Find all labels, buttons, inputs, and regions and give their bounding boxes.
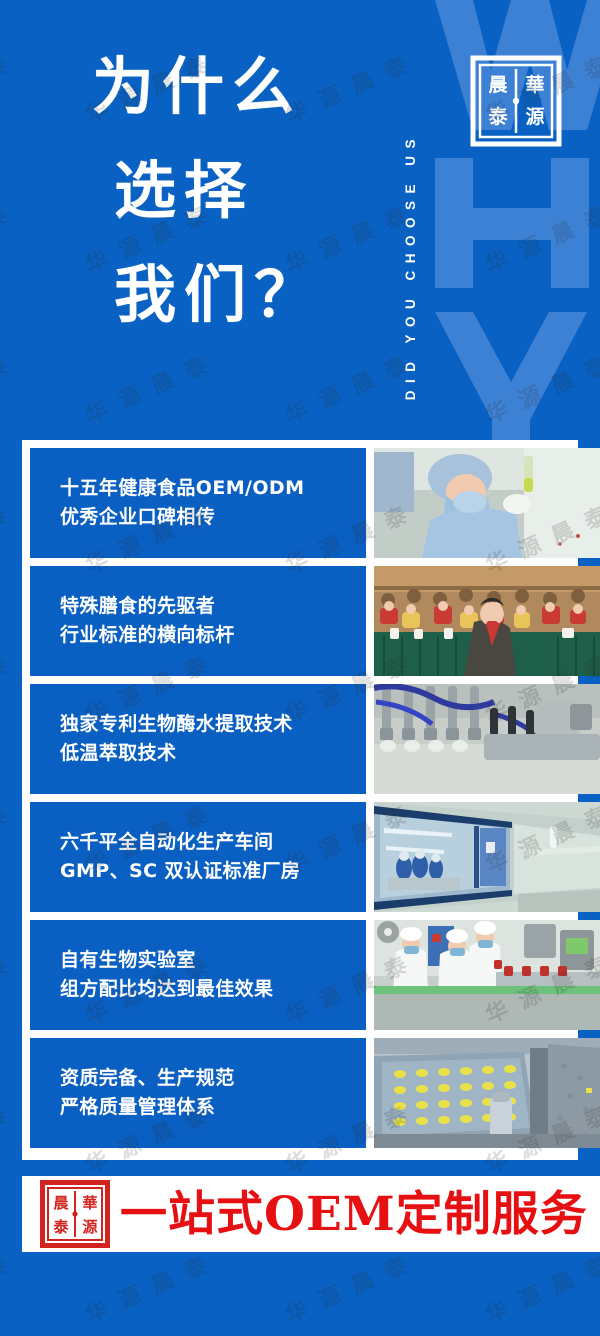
- svg-text:晨: 晨: [53, 1194, 69, 1212]
- vertical-english-text: DID YOU CHOOSE US: [404, 132, 418, 400]
- feature-line-1: 资质完备、生产规范: [60, 1064, 366, 1093]
- title-line-1: 为什么: [92, 56, 324, 118]
- watermark-text: 华源晨泰: [80, 342, 225, 430]
- feature-photo-blister-packaging: [374, 1038, 600, 1148]
- list-item[interactable]: 六千平全自动化生产车间 GMP、SC 双认证标准厂房: [30, 802, 600, 912]
- list-item[interactable]: 资质完备、生产规范 严格质量管理体系: [30, 1038, 600, 1148]
- list-item[interactable]: 独家专利生物酶水提取技术 低温萃取技术: [30, 684, 600, 794]
- feature-line-2: 组方配比均达到最佳效果: [60, 975, 366, 1004]
- watermark-text: 华源晨泰: [0, 42, 24, 130]
- title-line-2: 选择: [114, 160, 324, 222]
- feature-line-2: 行业标准的横向标杆: [60, 621, 366, 650]
- svg-text:泰: 泰: [487, 105, 508, 128]
- feature-text-card: 独家专利生物酶水提取技术 低温萃取技术: [30, 684, 366, 794]
- brand-seal-header: 晨 泰 華 源: [470, 55, 562, 147]
- feature-line-2: 优秀企业口碑相传: [60, 503, 366, 532]
- poster-root: DID YOU CHOOSE US 晨 泰 華 源 为什么 选择 我们？ 十五年…: [0, 0, 600, 1336]
- feature-line-1: 自有生物实验室: [60, 946, 366, 975]
- list-item[interactable]: 十五年健康食品OEM/ODM 优秀企业口碑相传: [30, 448, 600, 558]
- svg-text:晨: 晨: [488, 74, 508, 96]
- seal-icon: 晨 泰 華 源: [470, 55, 562, 147]
- feature-text-card: 自有生物实验室 组方配比均达到最佳效果: [30, 920, 366, 1030]
- feature-line-1: 独家专利生物酶水提取技术: [60, 710, 366, 739]
- watermark-text: 华源晨泰: [0, 942, 24, 1030]
- feature-line-2: GMP、SC 双认证标准厂房: [60, 857, 366, 886]
- feature-line-1: 特殊膳食的先驱者: [60, 592, 366, 621]
- watermark-text: 华源晨泰: [0, 492, 24, 580]
- svg-text:華: 華: [82, 1194, 97, 1212]
- svg-text:源: 源: [525, 105, 544, 128]
- footer-cta-text: 一站式OEM定制服务: [120, 1191, 588, 1238]
- watermark-text: 华源晨泰: [0, 1242, 24, 1330]
- title-line-3: 我们？: [114, 264, 324, 326]
- watermark-text: 华源晨泰: [480, 1242, 600, 1330]
- list-item[interactable]: 特殊膳食的先驱者 行业标准的横向标杆: [30, 566, 600, 676]
- feature-text-card: 特殊膳食的先驱者 行业标准的横向标杆: [30, 566, 366, 676]
- feature-text-card: 六千平全自动化生产车间 GMP、SC 双认证标准厂房: [30, 802, 366, 912]
- svg-text:泰: 泰: [52, 1218, 69, 1236]
- feature-photo-filling-machine: [374, 684, 600, 794]
- feature-list: 十五年健康食品OEM/ODM 优秀企业口碑相传: [22, 440, 600, 1160]
- vertical-english-label: DID YOU CHOOSE US: [398, 18, 424, 400]
- list-item[interactable]: 自有生物实验室 组方配比均达到最佳效果: [30, 920, 600, 1030]
- feature-photo-staff-inspection: [374, 920, 600, 1030]
- watermark-text: 华源晨泰: [80, 1242, 225, 1330]
- watermark-text: 华源晨泰: [0, 792, 24, 880]
- feature-line-2: 严格质量管理体系: [60, 1093, 366, 1122]
- feature-text-card: 资质完备、生产规范 严格质量管理体系: [30, 1038, 366, 1148]
- svg-text:源: 源: [82, 1218, 97, 1236]
- feature-photo-conference: [374, 566, 600, 676]
- watermark-text: 华源晨泰: [0, 192, 24, 280]
- brand-seal-footer: 晨 泰 華 源: [40, 1180, 110, 1248]
- svg-text:華: 華: [525, 73, 544, 96]
- watermark-text: 华源晨泰: [0, 1092, 24, 1180]
- seal-icon-red: 晨 泰 華 源: [40, 1180, 110, 1248]
- page-title: 为什么 选择 我们？: [92, 56, 324, 326]
- footer-cta-bar[interactable]: 晨 泰 華 源 一站式OEM定制服务: [22, 1176, 600, 1252]
- feature-line-1: 六千平全自动化生产车间: [60, 828, 366, 857]
- feature-line-2: 低温萃取技术: [60, 739, 366, 768]
- feature-photo-cleanroom: [374, 802, 600, 912]
- feature-photo-lab-technician: [374, 448, 600, 558]
- feature-text-card: 十五年健康食品OEM/ODM 优秀企业口碑相传: [30, 448, 366, 558]
- watermark-text: 华源晨泰: [0, 342, 24, 430]
- watermark-text: 华源晨泰: [280, 1242, 425, 1330]
- watermark-text: 华源晨泰: [0, 642, 24, 730]
- feature-line-1: 十五年健康食品OEM/ODM: [60, 474, 366, 503]
